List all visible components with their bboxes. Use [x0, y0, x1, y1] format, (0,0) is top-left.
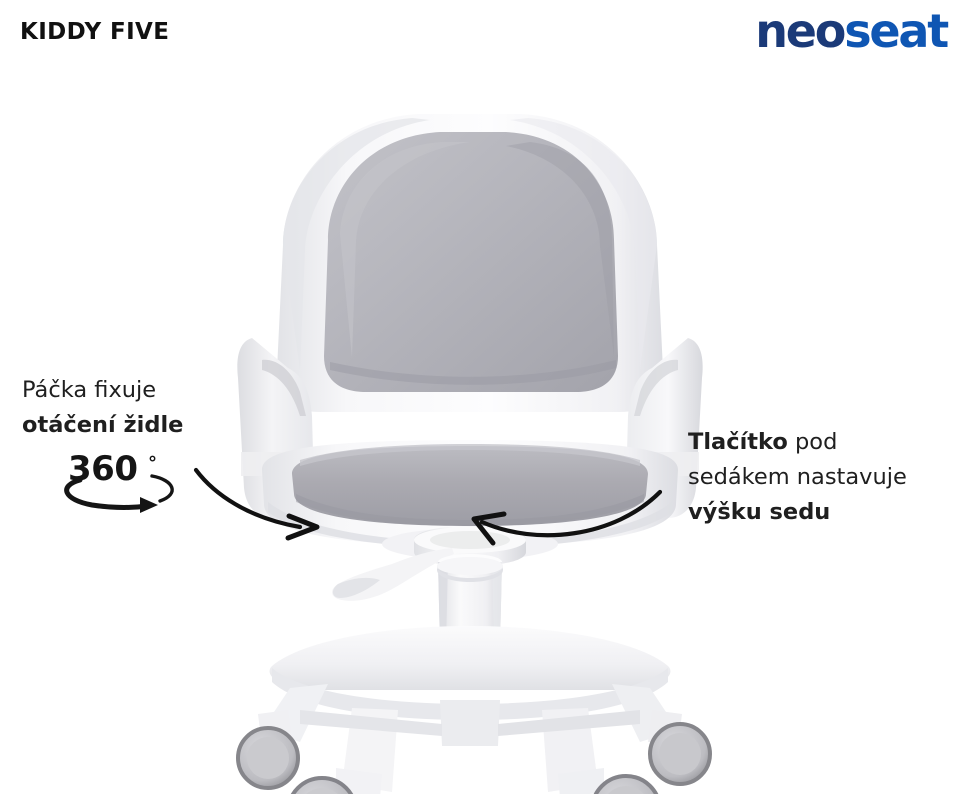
brand-logo-seat: seat [844, 4, 947, 58]
annotation-right-line1-bold: Tlačítko [688, 429, 788, 455]
annotation-left-line1: Páčka fixuje [22, 373, 252, 408]
backrest-cushion [324, 132, 618, 392]
brand-logo: neoseat [755, 8, 947, 54]
page-title: KIDDY FIVE [20, 19, 169, 45]
annotation-right-line1-rest: pod [788, 429, 837, 455]
tilt-lever [332, 548, 454, 601]
annotation-right-line1: Tlačítko pod [688, 425, 950, 460]
annotation-right-line2: sedákem nastavuje [688, 460, 950, 495]
brand-logo-neo: neo [755, 4, 844, 58]
annotation-left-line2: otáčení židle [22, 408, 252, 443]
rotation-360-badge: 360 ° [52, 452, 187, 514]
base-star [262, 626, 678, 792]
annotation-right: Tlačítko pod sedákem nastavuje výšku sed… [688, 425, 950, 530]
seat-cushion [292, 444, 648, 526]
annotation-right-line3: výšku sedu [688, 495, 950, 530]
caster-back-right [648, 710, 710, 784]
annotation-left: Páčka fixuje otáčení židle [22, 373, 252, 443]
rotation-360-degree-symbol: ° [148, 453, 157, 474]
rotation-360-value: 360 [68, 449, 137, 489]
height-button [437, 557, 503, 582]
caster-back-left [238, 710, 298, 788]
